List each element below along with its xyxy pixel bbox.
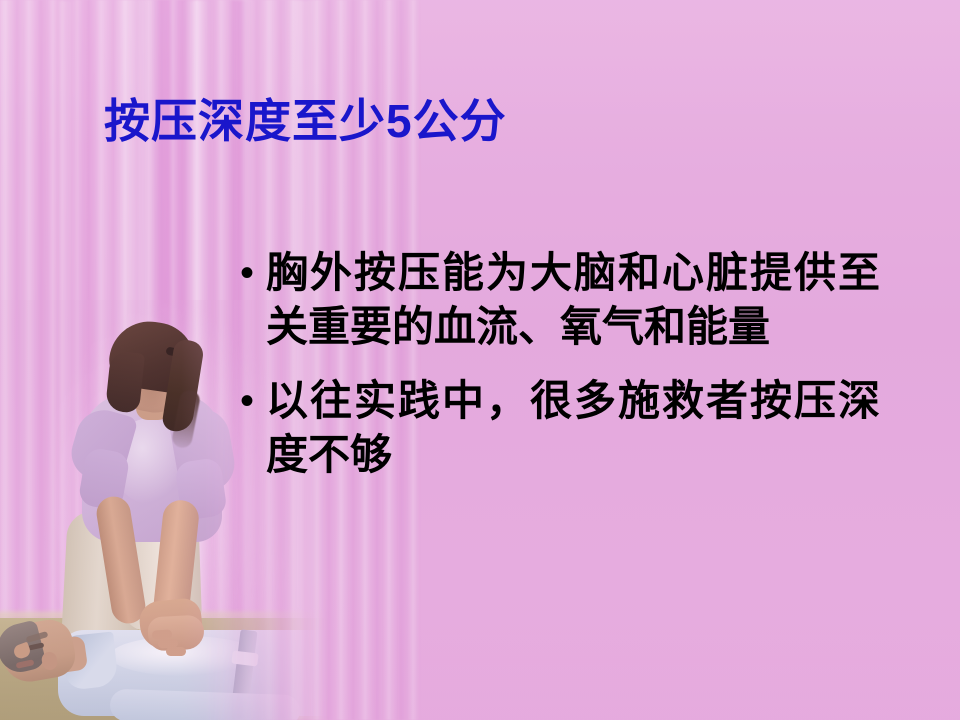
- photo-woman-finger-3: [166, 647, 186, 656]
- slide-canvas: 按压深度至少5公分 • 胸外按压能为大脑和心脏提供至关重要的血流、氧气和能量 •…: [0, 0, 960, 720]
- photo-man-arm: [109, 689, 300, 720]
- photo-woman-hair-side: [105, 350, 145, 413]
- bullet-marker-icon: •: [232, 246, 266, 300]
- slide-title: 按压深度至少5公分: [104, 98, 507, 144]
- slide-body: • 胸外按压能为大脑和心脏提供至关重要的血流、氧气和能量 • 以往实践中，很多施…: [232, 246, 880, 502]
- bullet-item: • 胸外按压能为大脑和心脏提供至关重要的血流、氧气和能量: [232, 246, 880, 354]
- bullet-text: 胸外按压能为大脑和心脏提供至关重要的血流、氧气和能量: [266, 246, 880, 354]
- bullet-marker-icon: •: [232, 374, 266, 428]
- bullet-item: • 以往实践中，很多施救者按压深度不够: [232, 374, 880, 482]
- bullet-text: 以往实践中，很多施救者按压深度不够: [266, 374, 880, 482]
